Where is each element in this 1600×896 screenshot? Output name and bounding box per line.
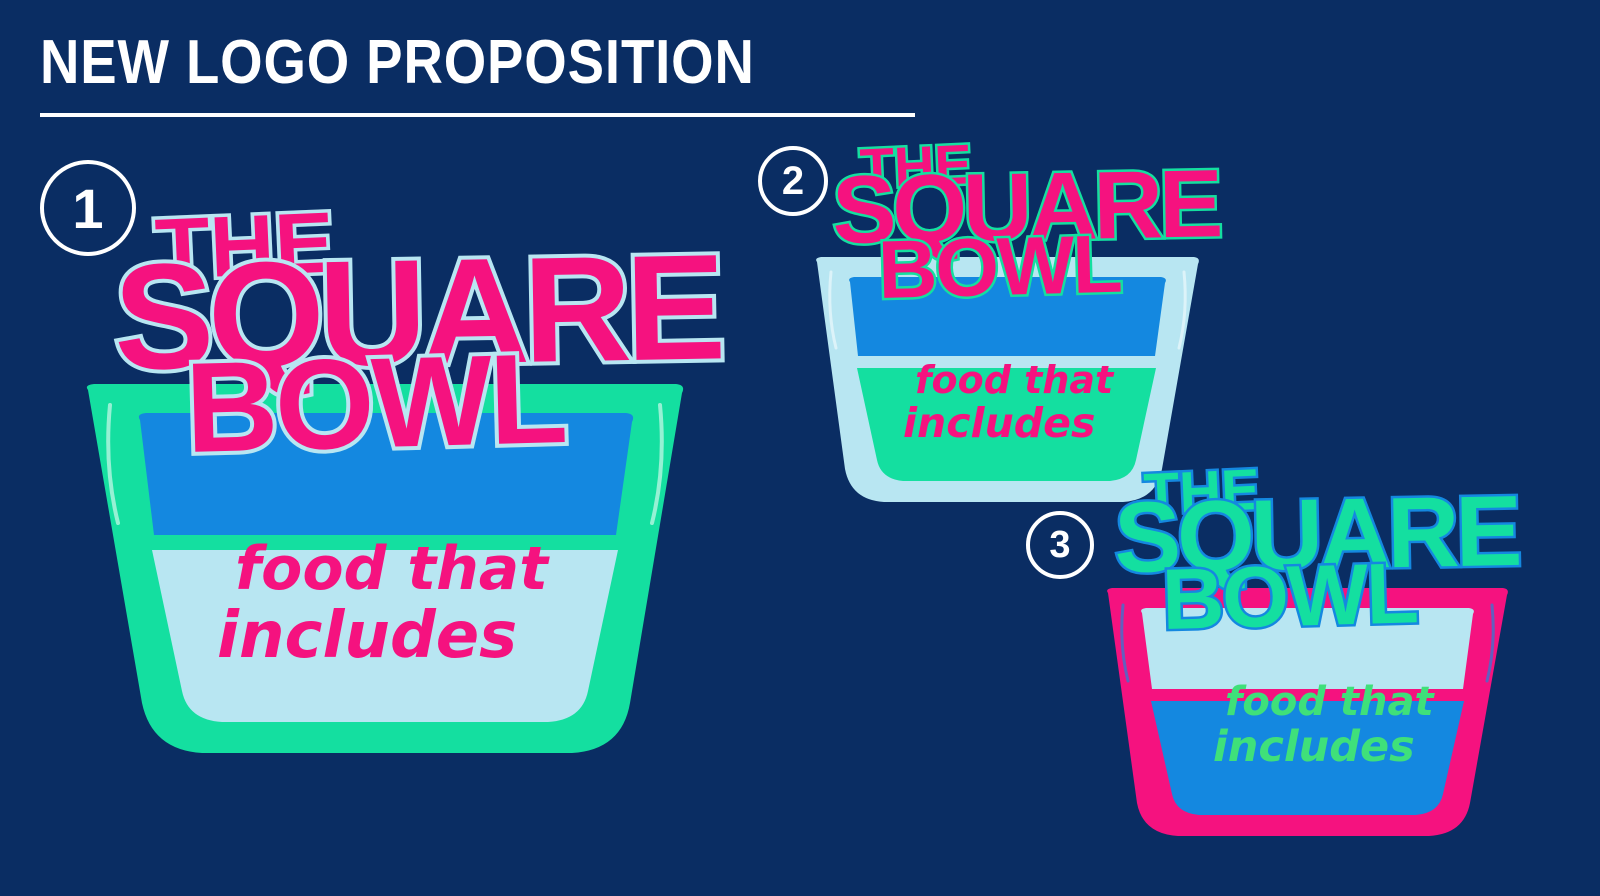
option-badge-3-number: 3 — [1049, 524, 1070, 567]
title-divider — [40, 113, 915, 117]
logo-2-upper-band — [849, 277, 1166, 356]
option-badge-3[interactable]: 3 — [1026, 511, 1094, 579]
logo-1-upper-band — [139, 413, 633, 535]
slide-canvas: NEW LOGO PROPOSITION 1 THE SQUARE BOWL f… — [0, 0, 1600, 896]
header: NEW LOGO PROPOSITION — [40, 30, 920, 117]
option-badge-2[interactable]: 2 — [758, 146, 828, 216]
logo-2-bowl-artwork — [805, 140, 1210, 510]
logo-option-2[interactable]: THE SQUARE BOWL food that includes — [805, 140, 1210, 510]
logo-3-bowl-artwork — [1095, 465, 1520, 845]
logo-3-lower-panel — [1151, 701, 1464, 815]
logo-option-1[interactable]: THE SQUARE BOWL food that includes — [70, 205, 700, 765]
logo-3-upper-band — [1141, 608, 1474, 689]
logo-1-bowl-artwork — [70, 205, 700, 765]
option-badge-1[interactable]: 1 — [40, 160, 136, 256]
logo-option-3[interactable]: THE SQUARE BOWL food that includes — [1095, 465, 1520, 845]
option-badge-1-number: 1 — [72, 176, 103, 241]
option-badge-2-number: 2 — [782, 159, 804, 204]
page-title: NEW LOGO PROPOSITION — [40, 30, 814, 95]
logo-1-lower-panel — [152, 550, 618, 722]
